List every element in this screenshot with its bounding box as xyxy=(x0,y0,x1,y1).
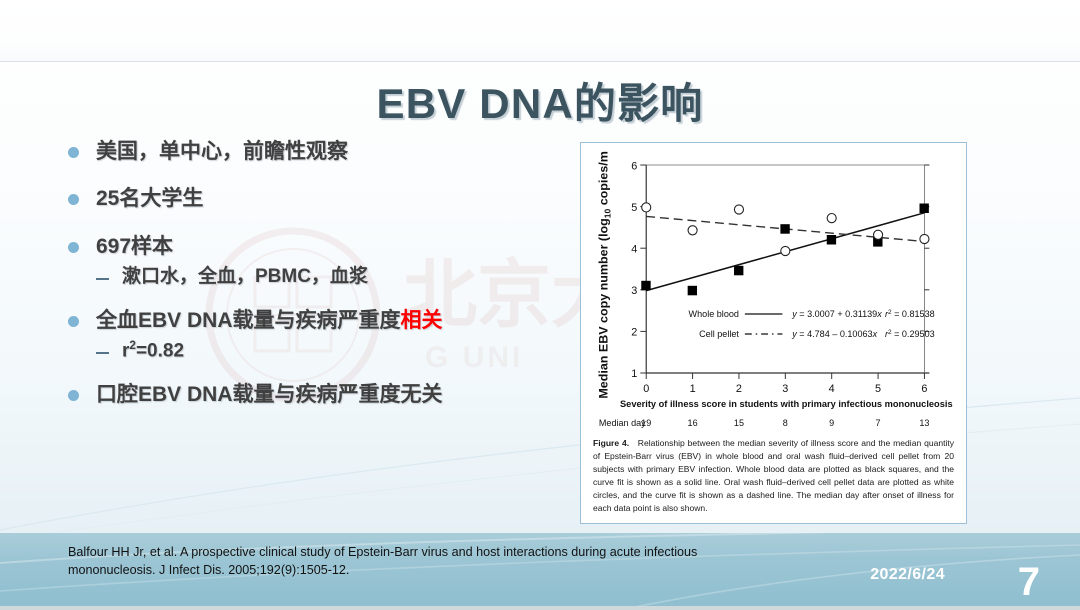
y-tick-label: 4 xyxy=(631,243,637,255)
data-point xyxy=(781,246,790,255)
legend-r2-cell-pellet: r2 = 0.29503 xyxy=(885,329,935,339)
bullet-dot-icon xyxy=(68,242,79,253)
x-tick-label: 1 xyxy=(690,383,696,395)
median-day-value: 8 xyxy=(783,418,788,428)
chart-legend: Whole blood y = 3.0007 + 0.31139x r2 = 0… xyxy=(689,309,935,339)
legend-equation-whole-blood: y = 3.0007 + 0.31139x xyxy=(791,309,882,319)
header-divider xyxy=(0,61,1080,62)
data-point xyxy=(827,235,836,245)
data-point xyxy=(920,234,929,243)
bullet-text: 全血EBV DNA载量与疾病严重度相关 xyxy=(96,307,443,335)
bullet-text: 美国，单中心，前瞻性观察 xyxy=(96,138,348,166)
scatter-chart-svg: 6 5 4 3 2 1 0 xyxy=(589,151,956,399)
figure-caption: Figure 4. Relationship between the media… xyxy=(589,437,956,515)
x-tick-label: 5 xyxy=(875,383,881,395)
data-point xyxy=(688,226,697,235)
bullet-text-highlight: 相关 xyxy=(401,309,443,332)
sub-bullet-text-r2: r2=0.82 xyxy=(122,338,184,364)
data-point xyxy=(734,266,743,276)
figure-caption-text: Relationship between the median severity… xyxy=(593,438,954,513)
slide-title: EBV DNA的影响 xyxy=(0,70,1080,131)
bullet-dot-icon xyxy=(68,316,79,327)
x-tick-label: 0 xyxy=(643,383,649,395)
legend-label-whole-blood: Whole blood xyxy=(689,309,739,319)
median-day-value: 15 xyxy=(734,418,744,428)
slide-footer: Balfour HH Jr, et al. A prospective clin… xyxy=(0,533,1080,610)
sub-list-item: 漱口水，全血，PBMC，血浆 xyxy=(96,264,568,290)
slide-date: 2022/6/24 xyxy=(870,566,945,584)
sub-list-item: r2=0.82 xyxy=(96,338,568,364)
median-day-value: 16 xyxy=(688,418,698,428)
x-tick-label: 6 xyxy=(921,383,927,395)
figure-caption-label: Figure 4. xyxy=(593,438,629,448)
y-tick-label: 6 xyxy=(631,160,637,172)
sub-bullet-text: 漱口水，全血，PBMC，血浆 xyxy=(122,264,368,290)
legend-r2-whole-blood: r2 = 0.81538 xyxy=(885,309,935,319)
list-item: 25名大学生 xyxy=(68,185,568,213)
bullet-list: 美国，单中心，前瞻性观察 25名大学生 697样本 漱口水，全血，PBMC，血浆… xyxy=(68,138,568,428)
median-day-value: 19 xyxy=(641,418,651,428)
y-axis-label: Median EBV copy number (log10 copies/mL) xyxy=(597,151,613,399)
bullet-dot-icon xyxy=(68,194,79,205)
citation-text: Balfour HH Jr, et al. A prospective clin… xyxy=(68,543,788,580)
list-item: 全血EBV DNA载量与疾病严重度相关 xyxy=(68,307,568,335)
data-point xyxy=(734,205,743,214)
y-tick-label: 5 xyxy=(631,202,637,214)
bullet-text: 697样本 xyxy=(96,233,173,261)
median-day-value: 9 xyxy=(829,418,834,428)
x-axis-label: Severity of illness score in students wi… xyxy=(620,399,953,409)
legend-equation-cell-pellet: y = 4.784 – 0.10063x xyxy=(791,329,877,339)
median-day-value: 13 xyxy=(919,418,929,428)
dash-marker-icon xyxy=(96,352,109,354)
bullet-text: 口腔EBV DNA载量与疾病严重度无关 xyxy=(96,381,443,409)
figure-panel: 6 5 4 3 2 1 0 xyxy=(580,142,967,524)
bullet-text: 25名大学生 xyxy=(96,185,203,213)
y-tick-label: 3 xyxy=(631,285,637,297)
data-point xyxy=(874,230,883,239)
y-tick-label: 1 xyxy=(631,368,637,380)
list-item: 美国，单中心，前瞻性观察 xyxy=(68,138,568,166)
x-tick-label: 3 xyxy=(782,383,788,395)
bullet-dot-icon xyxy=(68,147,79,158)
bullet-text-main: 全血EBV DNA载量与疾病严重度 xyxy=(96,309,401,332)
dash-marker-icon xyxy=(96,278,109,280)
data-point xyxy=(827,214,836,223)
data-point xyxy=(688,286,697,296)
slide: 北京大 G UNI 尚 厚 道 远 北京大学第一医院 PEKING UN xyxy=(0,0,1080,610)
list-item: 口腔EBV DNA载量与疾病严重度无关 xyxy=(68,381,568,409)
slide-header xyxy=(0,0,1080,62)
list-item: 697样本 xyxy=(68,233,568,261)
y-tick-label: 2 xyxy=(631,326,637,338)
data-point xyxy=(641,281,650,291)
median-day-value: 7 xyxy=(876,418,881,428)
data-point xyxy=(780,224,789,234)
page-number: 7 xyxy=(1018,562,1040,602)
bullet-dot-icon xyxy=(68,390,79,401)
data-point xyxy=(642,203,651,212)
chart-plot: 6 5 4 3 2 1 0 xyxy=(589,151,956,399)
x-tick-label: 4 xyxy=(829,383,835,395)
x-tick-label: 2 xyxy=(736,383,742,395)
legend-label-cell-pellet: Cell pellet xyxy=(699,329,739,339)
median-day-label: Median day xyxy=(599,418,646,428)
data-point xyxy=(919,204,928,214)
median-day-values: 19 16 15 8 9 7 13 xyxy=(641,418,929,428)
